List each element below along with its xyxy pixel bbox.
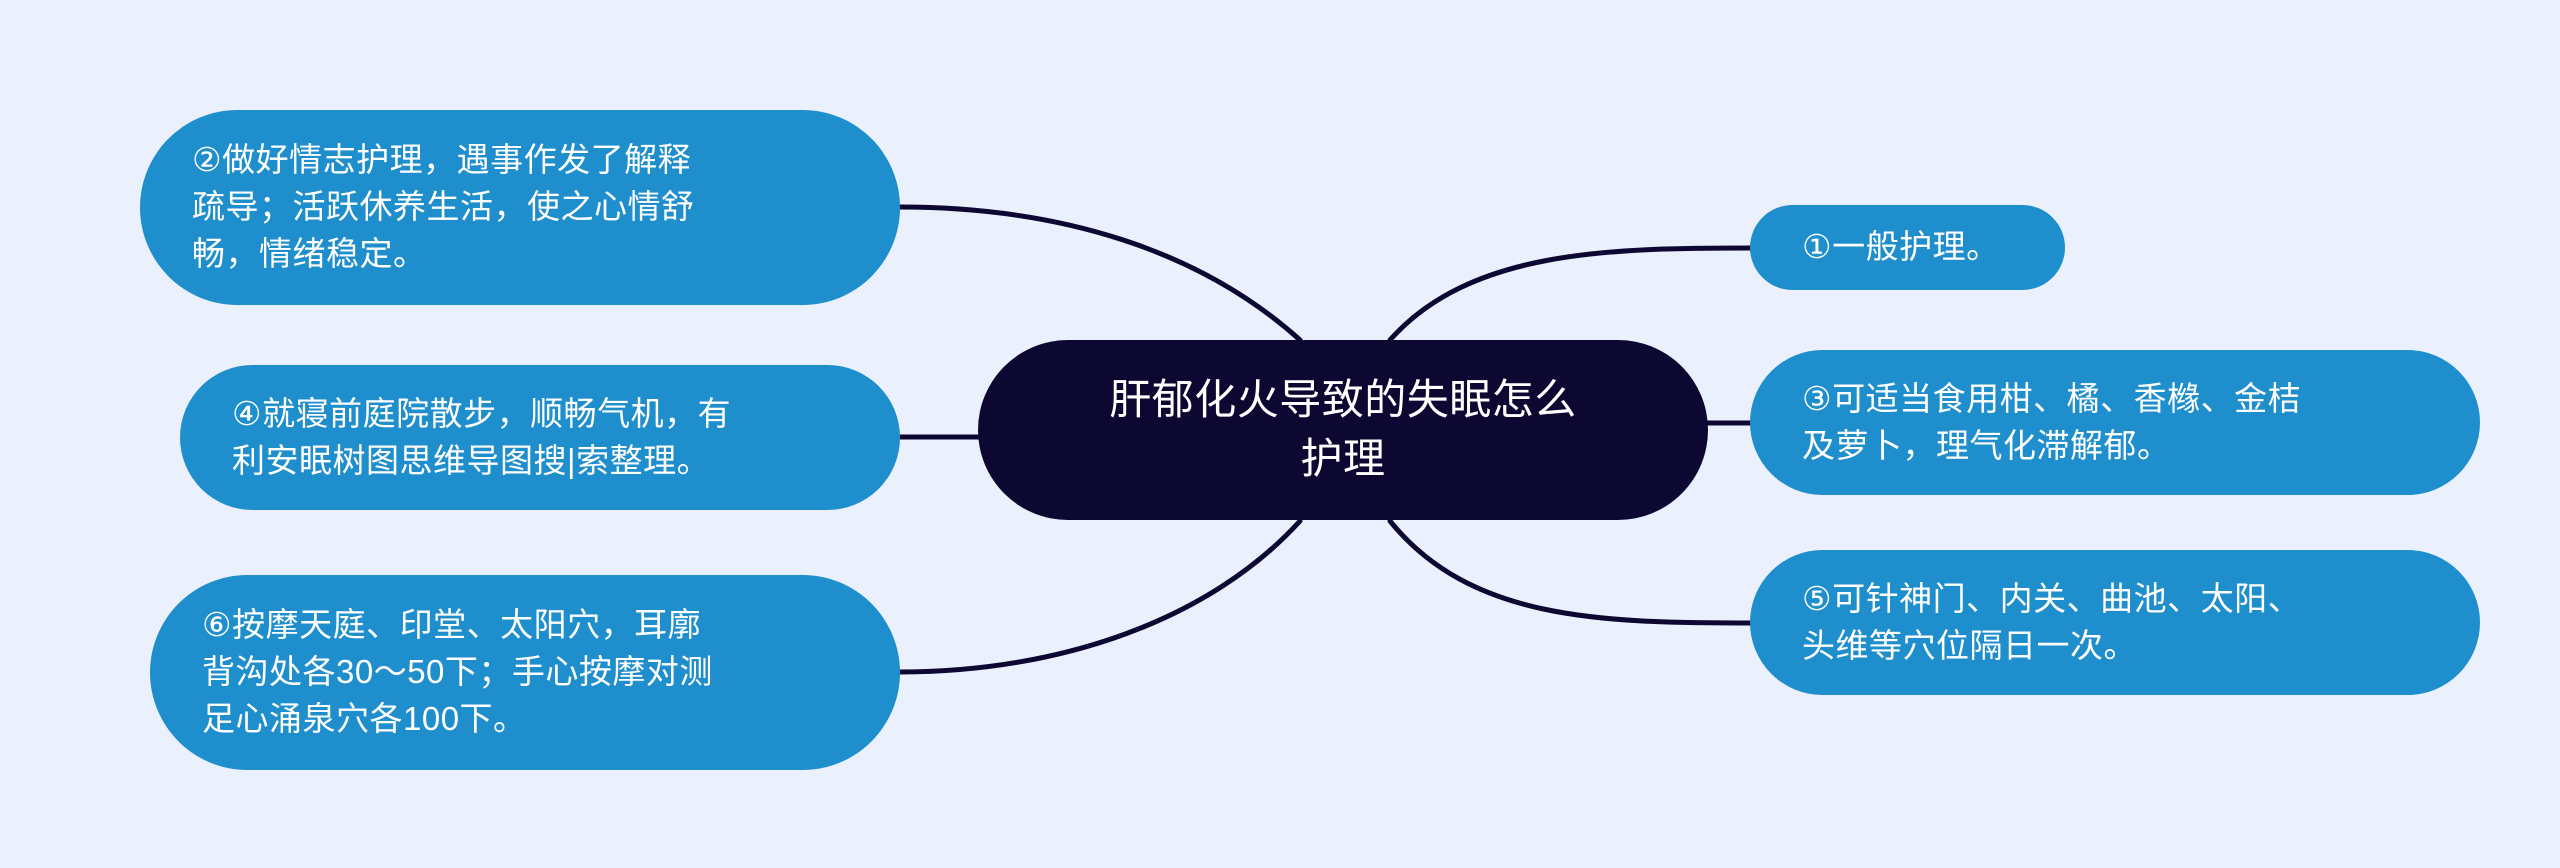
mindmap-canvas: ②做好情志护理，遇事作发了解释 疏导；活跃休养生活，使之心情舒 畅，情绪稳定。 … bbox=[0, 0, 2560, 868]
branch-node-1-label: ①一般护理。 bbox=[1802, 224, 2021, 271]
branch-node-5[interactable]: ⑤可针神门、内关、曲池、太阳、 头维等穴位隔日一次。 bbox=[1750, 550, 2480, 695]
central-topic-node[interactable]: 肝郁化火导致的失眠怎么 护理 bbox=[978, 340, 1708, 520]
branch-node-6[interactable]: ⑥按摩天庭、印堂、太阳穴，耳廓 背沟处各30～50下；手心按摩对测 足心涌泉穴各… bbox=[150, 575, 900, 770]
branch-node-5-label: ⑤可针神门、内关、曲池、太阳、 头维等穴位隔日一次。 bbox=[1802, 576, 2436, 670]
branch-node-1[interactable]: ①一般护理。 bbox=[1750, 205, 2065, 290]
connector-b6 bbox=[900, 521, 1300, 672]
branch-node-6-label: ⑥按摩天庭、印堂、太阳穴，耳廓 背沟处各30～50下；手心按摩对测 足心涌泉穴各… bbox=[202, 602, 856, 743]
connector-b2 bbox=[900, 207, 1300, 340]
central-topic-label: 肝郁化火导致的失眠怎么 护理 bbox=[1030, 371, 1656, 489]
branch-node-2[interactable]: ②做好情志护理，遇事作发了解释 疏导；活跃休养生活，使之心情舒 畅，情绪稳定。 bbox=[140, 110, 900, 305]
connector-b1 bbox=[1390, 248, 1752, 340]
branch-node-4-label: ④就寝前庭院散步，顺畅气机，有 利安眠树图思维导图搜|索整理。 bbox=[232, 391, 856, 485]
branch-node-2-label: ②做好情志护理，遇事作发了解释 疏导；活跃休养生活，使之心情舒 畅，情绪稳定。 bbox=[192, 137, 856, 278]
branch-node-3-label: ③可适当食用柑、橘、香橼、金桔 及萝卜，理气化滞解郁。 bbox=[1802, 376, 2436, 470]
connector-b5 bbox=[1390, 521, 1752, 623]
branch-node-4[interactable]: ④就寝前庭院散步，顺畅气机，有 利安眠树图思维导图搜|索整理。 bbox=[180, 365, 900, 510]
branch-node-3[interactable]: ③可适当食用柑、橘、香橼、金桔 及萝卜，理气化滞解郁。 bbox=[1750, 350, 2480, 495]
